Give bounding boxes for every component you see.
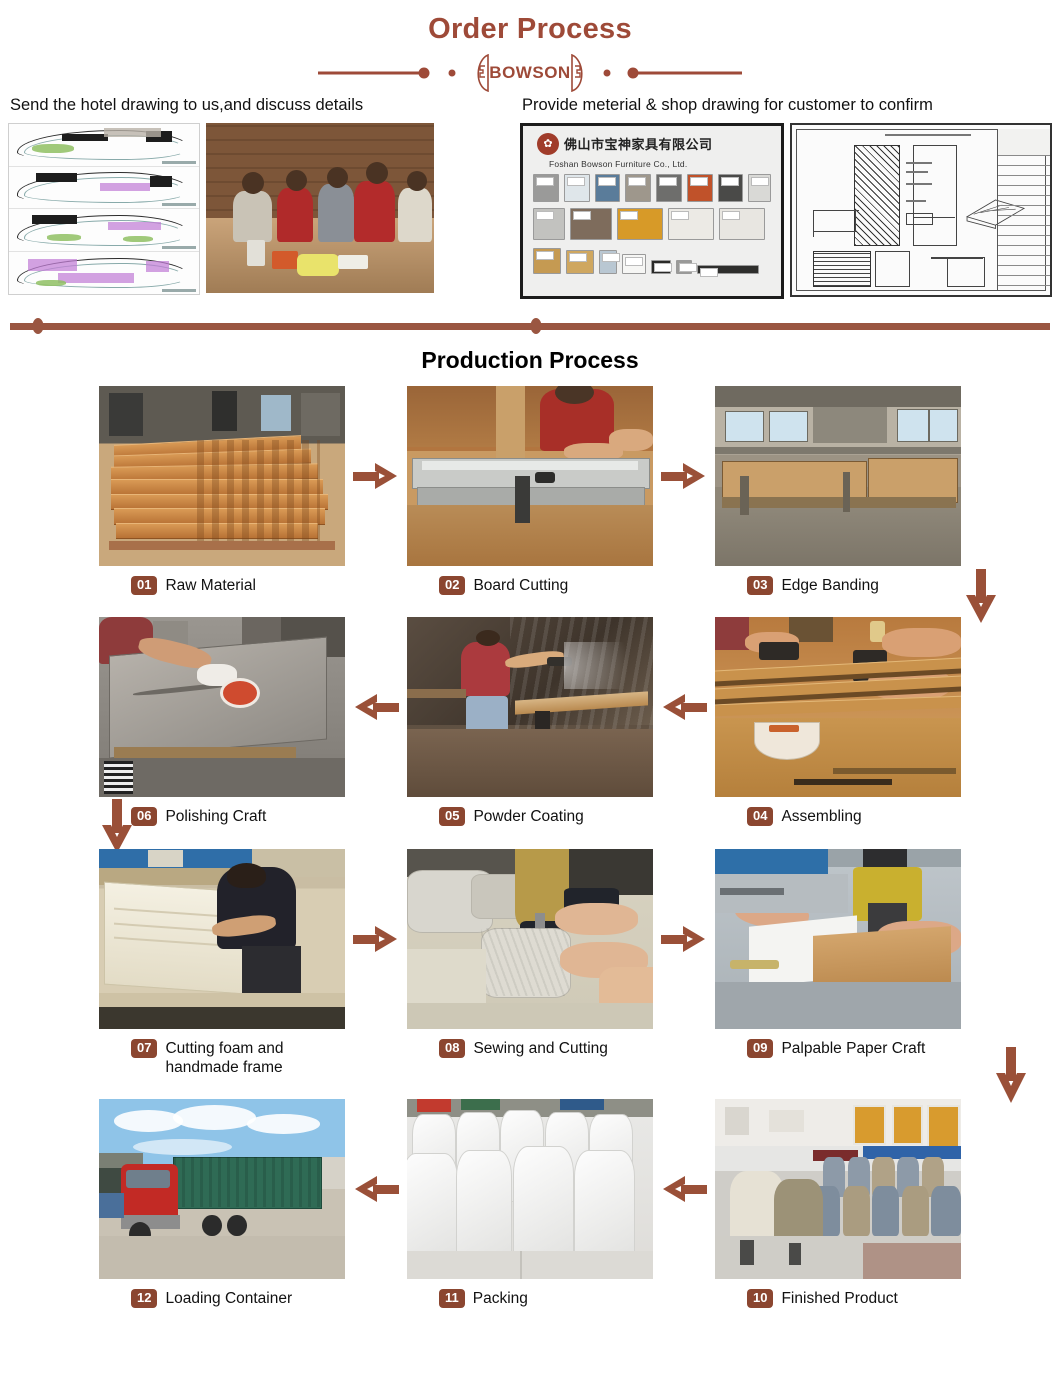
- arrow-right-icon: [661, 461, 707, 491]
- step-label-07-line2: handmade frame: [165, 1058, 283, 1077]
- step-label-09: Palpable Paper Craft: [781, 1039, 925, 1058]
- caption-12: 12 Loading Container: [99, 1289, 345, 1308]
- packing-photo: [407, 1099, 653, 1279]
- caption-06: 06 Polishing Craft: [99, 807, 345, 826]
- brand-divider: BOWSON: [0, 52, 1060, 94]
- step-card-09: 09 Palpable Paper Craft: [715, 849, 961, 1058]
- raw-material-photo: [99, 386, 345, 566]
- divider-line-right: [634, 71, 742, 74]
- step-label-05: Powder Coating: [473, 807, 583, 826]
- caption-01: 01 Raw Material: [99, 576, 345, 595]
- step-card-12: 12 Loading Container: [99, 1099, 345, 1308]
- step-label-02: Board Cutting: [473, 576, 568, 595]
- shop-drawing-cad-image: [790, 123, 1052, 297]
- arrow-down-icon-03-to-04: [964, 569, 998, 625]
- step-label-04: Assembling: [781, 807, 861, 826]
- discussion-meeting-photo: [206, 123, 434, 293]
- order-right-caption: Provide meterial & shop drawing for cust…: [522, 96, 1052, 115]
- step-badge-04: 04: [747, 807, 773, 826]
- ornament-left-icon: [470, 54, 490, 92]
- arrow-04-to-05: [653, 617, 715, 797]
- company-name-en: Foshan Bowson Furniture Co., Ltd.: [549, 159, 781, 169]
- step-badge-11: 11: [439, 1289, 465, 1308]
- arrow-10-to-11: [653, 1099, 715, 1279]
- caption-10: 10 Finished Product: [715, 1289, 961, 1308]
- section-divider: [0, 311, 1060, 345]
- order-process-row: Send the hotel drawing to us,and discuss…: [0, 96, 1060, 299]
- step-card-03: 03 Edge Banding: [715, 386, 961, 595]
- cutting-foam-photo: [99, 849, 345, 1029]
- step-label-01: Raw Material: [165, 576, 255, 595]
- step-label-08: Sewing and Cutting: [473, 1039, 607, 1058]
- caption-03: 03 Edge Banding: [715, 576, 961, 595]
- arrow-right-icon: [661, 924, 707, 954]
- step-badge-12: 12: [131, 1289, 157, 1308]
- arrow-01-to-02: [345, 386, 407, 566]
- page-title: Order Process: [0, 14, 1060, 46]
- step-label-10: Finished Product: [781, 1289, 897, 1308]
- step-card-10: 10 Finished Product: [715, 1099, 961, 1308]
- step-card-11: 11 Packing: [407, 1099, 653, 1308]
- divider-marker-1: [33, 318, 44, 334]
- arrow-05-to-06: [345, 617, 407, 797]
- step-card-01: 01 Raw Material: [99, 386, 345, 595]
- caption-08: 08 Sewing and Cutting: [407, 1039, 653, 1058]
- step-badge-05: 05: [439, 807, 465, 826]
- arrow-left-icon: [661, 692, 707, 722]
- step-badge-06: 06: [131, 807, 157, 826]
- step-badge-10: 10: [747, 1289, 773, 1308]
- caption-05: 05 Powder Coating: [407, 807, 653, 826]
- arrow-07-to-08: [345, 849, 407, 1029]
- step-badge-07: 07: [131, 1039, 157, 1058]
- arrow-02-to-03: [653, 386, 715, 566]
- company-name-cn: 佛山市宝神家具有限公司: [564, 134, 713, 153]
- step-badge-09: 09: [747, 1039, 773, 1058]
- production-row-2: 06 Polishing Craft: [10, 617, 1050, 826]
- step-badge-03: 03: [747, 576, 773, 595]
- step-label-07-line1: Cutting foam and: [165, 1040, 283, 1057]
- order-step-material-drawing: Provide meterial & shop drawing for cust…: [520, 96, 1052, 299]
- production-row-1: 01 Raw Material: [10, 386, 1050, 595]
- arrow-right-icon: [353, 461, 399, 491]
- production-row-3: 07 Cutting foam and handmade frame: [10, 849, 1050, 1078]
- divider-dot-small-right: [604, 69, 611, 76]
- divider-marker-2: [531, 318, 542, 334]
- step-label-03: Edge Banding: [781, 576, 878, 595]
- board-cutting-photo: [407, 386, 653, 566]
- hotel-floor-plan-image: [8, 123, 200, 295]
- material-sample-board-image: ✿ 佛山市宝神家具有限公司 Foshan Bowson Furniture Co…: [520, 123, 784, 299]
- caption-04: 04 Assembling: [715, 807, 961, 826]
- step-card-05: 05 Powder Coating: [407, 617, 653, 826]
- order-left-caption: Send the hotel drawing to us,and discuss…: [10, 96, 520, 115]
- brand-name: BOWSON: [489, 63, 570, 83]
- step-label-06: Polishing Craft: [165, 807, 266, 826]
- caption-07: 07 Cutting foam and handmade frame: [99, 1039, 345, 1078]
- arrow-right-icon: [353, 924, 399, 954]
- step-label-11: Packing: [473, 1289, 528, 1308]
- order-step-drawing: Send the hotel drawing to us,and discuss…: [8, 96, 520, 299]
- step-card-04: 04 Assembling: [715, 617, 961, 826]
- powder-coating-photo: [407, 617, 653, 797]
- polishing-craft-photo: [99, 617, 345, 797]
- production-process-grid: 01 Raw Material: [0, 386, 1060, 1309]
- step-card-02: 02 Board Cutting: [407, 386, 653, 595]
- caption-11: 11 Packing: [407, 1289, 653, 1308]
- ornament-right-icon: [570, 54, 590, 92]
- assembling-photo: [715, 617, 961, 797]
- production-row-4: 12 Loading Container: [10, 1099, 1050, 1308]
- sewing-cutting-photo: [407, 849, 653, 1029]
- arrow-down-icon-06-to-07: [100, 799, 134, 855]
- divider-dot-small-left: [449, 69, 456, 76]
- step-card-06: 06 Polishing Craft: [99, 617, 345, 826]
- arrow-11-to-12: [345, 1099, 407, 1279]
- arrow-left-icon: [661, 1174, 707, 1204]
- arrow-left-icon: [353, 692, 399, 722]
- step-label-12: Loading Container: [165, 1289, 292, 1308]
- edge-banding-photo: [715, 386, 961, 566]
- step-badge-02: 02: [439, 576, 465, 595]
- step-card-08: 08 Sewing and Cutting: [407, 849, 653, 1058]
- arrow-down-icon-09-to-10: [994, 1047, 1028, 1105]
- caption-02: 02 Board Cutting: [407, 576, 653, 595]
- step-badge-01: 01: [131, 576, 157, 595]
- company-logo-icon: ✿: [537, 133, 559, 155]
- step-badge-08: 08: [439, 1039, 465, 1058]
- finished-product-photo: [715, 1099, 961, 1279]
- arrow-08-to-09: [653, 849, 715, 1029]
- step-label-07: Cutting foam and handmade frame: [165, 1039, 283, 1078]
- section-title: Production Process: [0, 347, 1060, 374]
- step-card-07: 07 Cutting foam and handmade frame: [99, 849, 345, 1078]
- arrow-left-icon: [353, 1174, 399, 1204]
- loading-container-photo: [99, 1099, 345, 1279]
- divider-dot-large-left: [419, 67, 430, 78]
- caption-09: 09 Palpable Paper Craft: [715, 1039, 961, 1058]
- palpable-paper-craft-photo: [715, 849, 961, 1029]
